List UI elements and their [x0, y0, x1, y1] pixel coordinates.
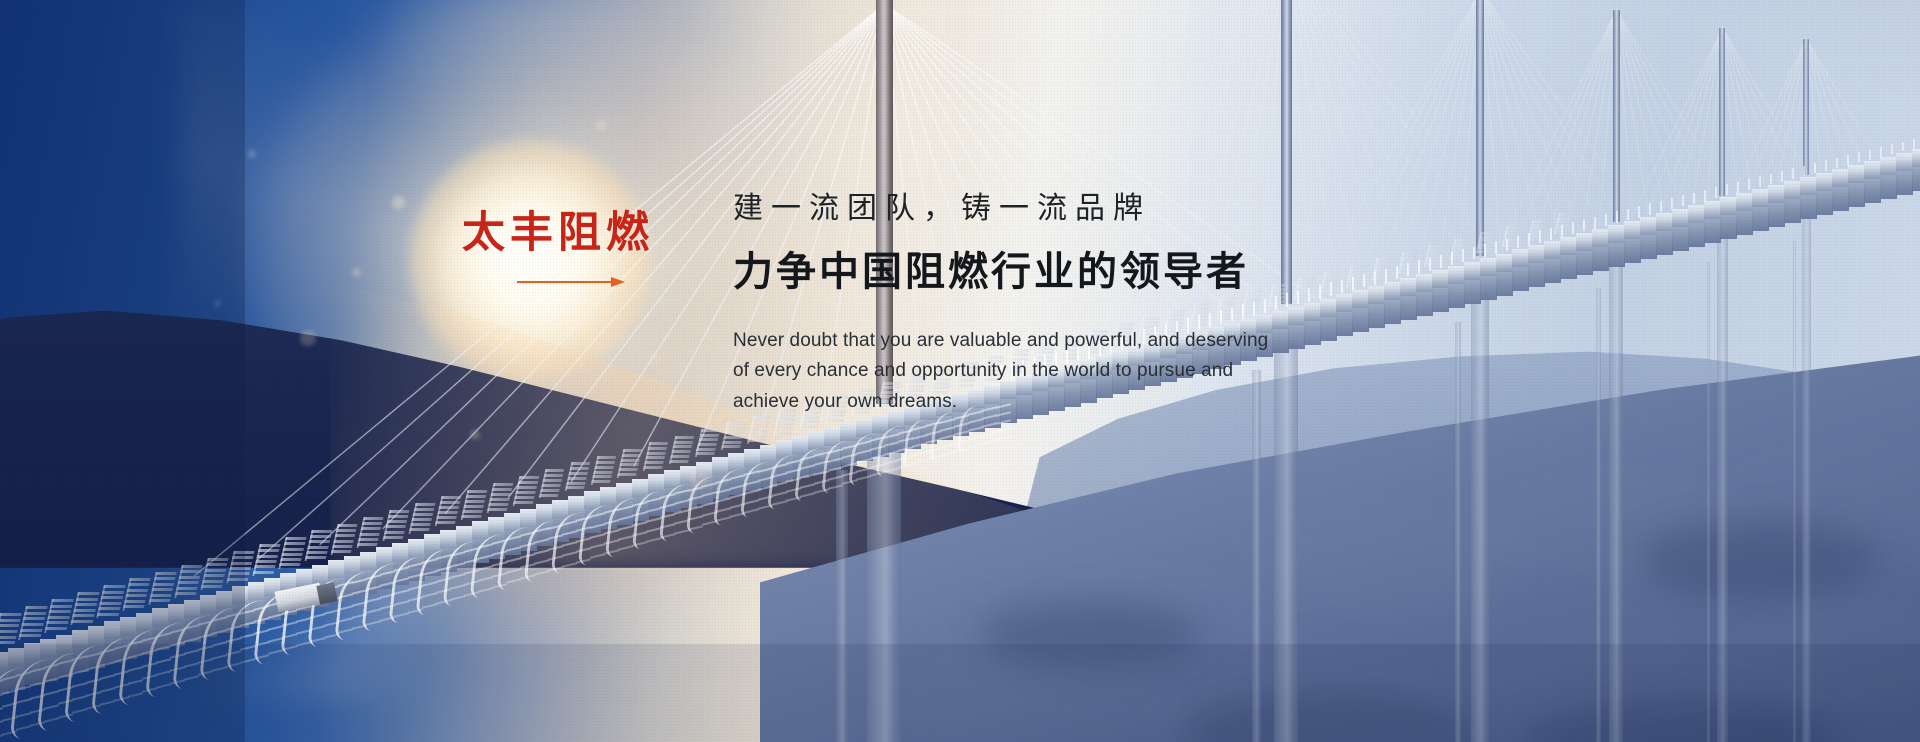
hero-tagline: Never doubt that you are valuable and po…: [733, 326, 1393, 418]
hero-subheadline: 建一流团队，铸一流品牌: [733, 190, 1393, 228]
tagline-line-3: achieve your own dreams.: [733, 387, 1393, 418]
arrow-head: [611, 277, 625, 287]
brand-logo[interactable]: 太丰阻燃: [462, 212, 662, 288]
hero-headline: 力争中国阻燃行业的领导者: [733, 248, 1393, 296]
arrow-shaft: [517, 281, 613, 283]
hero-banner: 太丰阻燃 建一流团队，铸一流品牌 力争中国阻燃行业的领导者 Never doub…: [0, 0, 1920, 742]
tagline-line-2: of every chance and opportunity in the w…: [733, 356, 1393, 387]
brand-logo-text: 太丰阻燃: [462, 212, 662, 255]
hero-copy: 建一流团队，铸一流品牌 力争中国阻燃行业的领导者 Never doubt tha…: [733, 190, 1393, 418]
arrow-right-icon: [517, 276, 625, 288]
tagline-line-1: Never doubt that you are valuable and po…: [733, 326, 1393, 357]
